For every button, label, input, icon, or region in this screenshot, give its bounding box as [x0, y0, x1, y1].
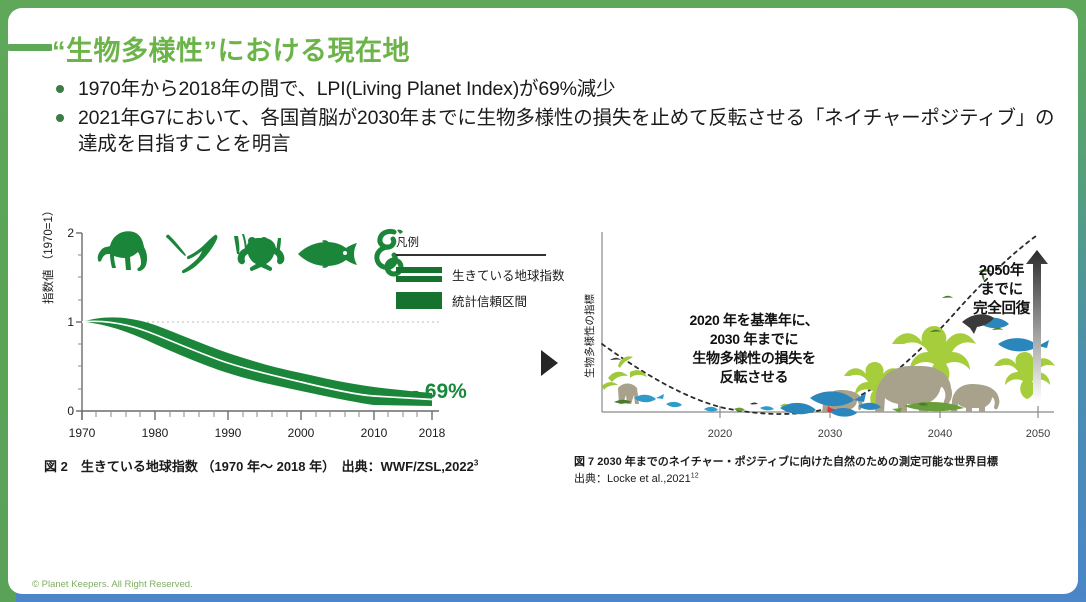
left-chart-xtick: 2010	[361, 426, 388, 440]
bullet-text: 1970年から2018年の間で、LPI(Living Planet Index)…	[78, 76, 615, 102]
gorilla-icon	[96, 230, 158, 276]
left-figure-caption-superscript: 3	[474, 459, 478, 468]
bullet-list: 1970年から2018年の間で、LPI(Living Planet Index)…	[48, 76, 1058, 160]
left-chart-xtick: 2018	[419, 426, 446, 440]
annotation-2030-target: 2020 年を基準年に、 2030 年までに 生物多様性の損失を 反転させる	[639, 311, 869, 387]
bullet-dot-icon	[56, 114, 64, 122]
legend-item: 統計信頼区間	[396, 291, 546, 310]
confidence-interval-band	[82, 317, 432, 406]
legend-swatch-band-icon	[396, 267, 442, 282]
right-chart-xtick: 2050	[1026, 428, 1050, 440]
legend-item-label: 生きている地球指数	[452, 265, 565, 284]
bullet-text: 2021年G7において、各国首脳が2030年までに生物多様性の損失を止めて反転さ…	[78, 105, 1058, 157]
list-item: 2021年G7において、各国首脳が2030年までに生物多様性の損失を止めて反転さ…	[48, 105, 1058, 157]
left-figure-caption: 図 2 生きている地球指数 （1970 年〜 2018 年） 出典：WWF/ZS…	[44, 456, 478, 475]
right-figure-caption-line2: 出典：Locke et al.,202112	[574, 471, 998, 488]
footer-copyright: © Planet Keepers. All Right Reserved.	[32, 579, 193, 590]
slide-content-area: “生物多様性”における現在地 1970年から2018年の間で、LPI(Livin…	[8, 8, 1078, 594]
left-chart-legend: 凡例 生きている地球指数 統計信頼区間	[396, 234, 546, 317]
legend-item: 生きている地球指数	[396, 265, 546, 284]
annotation-2050-target: 2050年 までに 完全回復	[954, 262, 1049, 319]
title-accent-bar	[8, 44, 52, 51]
right-figure-caption: 図 7 2030 年までのネイチャー・ポジティブに向けた自然のための測定可能な世…	[574, 454, 998, 487]
right-figure-caption-line1: 図 7 2030 年までのネイチャー・ポジティブに向けた自然のための測定可能な世…	[574, 454, 998, 471]
fish-icon	[296, 239, 360, 269]
legend-divider	[396, 254, 546, 256]
right-figure-caption-superscript: 12	[691, 472, 699, 479]
legend-title: 凡例	[396, 234, 546, 250]
bird-icon	[164, 233, 220, 275]
transition-arrow-icon	[541, 350, 558, 376]
figure-nature-positive: 生物多様性の指標	[574, 226, 1074, 476]
right-chart-xtick: 2020	[708, 428, 732, 440]
frog-icon	[230, 232, 286, 274]
left-chart-xtick: 1970	[69, 426, 96, 440]
slide: “生物多様性”における現在地 1970年から2018年の間で、LPI(Livin…	[0, 0, 1086, 602]
left-chart-xtick: 1980	[142, 426, 169, 440]
left-chart-xtick: 1990	[215, 426, 242, 440]
bullet-dot-icon	[56, 85, 64, 93]
left-chart-xtick: 2000	[288, 426, 315, 440]
right-chart-xtick: 2030	[818, 428, 842, 440]
legend-item-label: 統計信頼区間	[452, 291, 527, 310]
figure-living-planet-index: 指数値 （1970=1） 2 1 0	[34, 226, 554, 476]
left-figure-caption-text: 図 2 生きている地球指数 （1970 年〜 2018 年） 出典：WWF/ZS…	[44, 459, 474, 474]
list-item: 1970年から2018年の間で、LPI(Living Planet Index)…	[48, 76, 1058, 102]
right-chart-xtick: 2040	[928, 428, 952, 440]
page-title: “生物多様性”における現在地	[52, 29, 410, 68]
lpi-drop-annotation: - 69%	[412, 380, 467, 404]
legend-swatch-solid-icon	[396, 292, 442, 309]
